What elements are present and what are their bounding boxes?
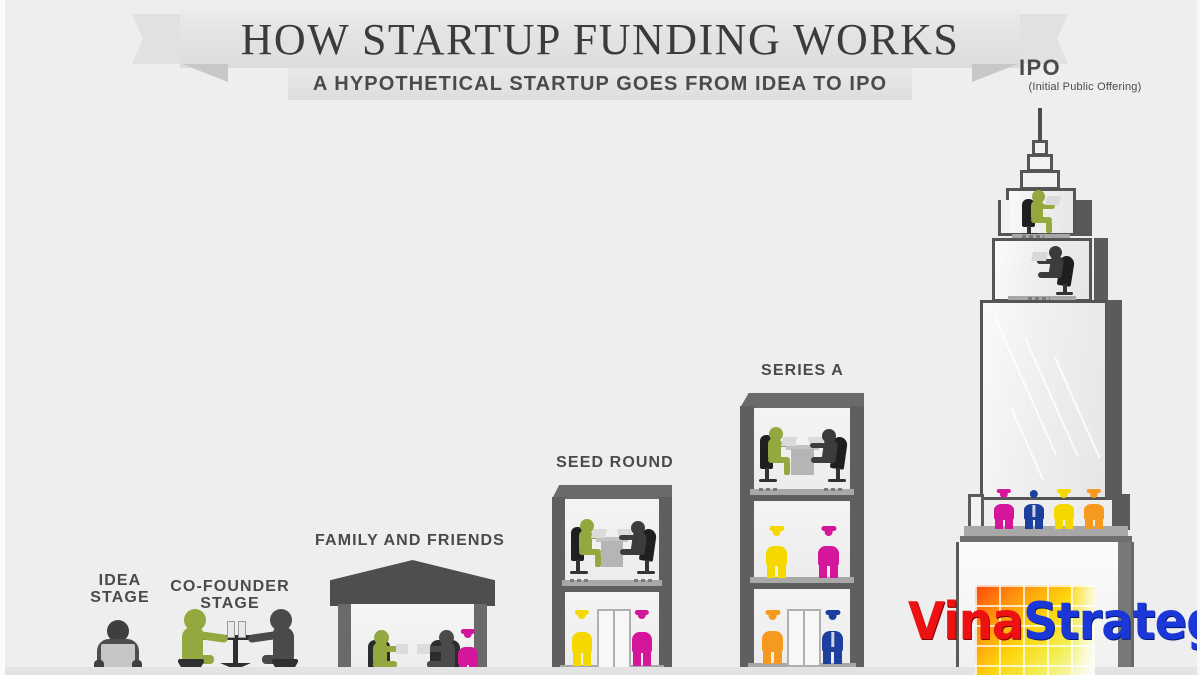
head-icon: [578, 611, 586, 619]
laptop-icon: [396, 644, 408, 654]
subtitle-ribbon: A HYPOTHETICAL STARTUP GOES FROM IDEA TO…: [288, 68, 912, 100]
leg-left-shape: [633, 651, 641, 666]
leg-left-shape: [763, 649, 771, 664]
torso-shape: [762, 631, 783, 652]
leg-left-shape: [573, 651, 581, 666]
watermark-vina: Vina: [908, 592, 1023, 652]
scene-co-founder-stage: [172, 605, 300, 675]
torso-shape: [572, 632, 592, 654]
house-roof: [330, 560, 495, 606]
chair-base: [570, 571, 588, 574]
tower-shadow-right: [1106, 300, 1122, 500]
leg-right-shape: [830, 564, 838, 578]
leg-shape: [1046, 221, 1052, 233]
arm-shape: [619, 535, 637, 540]
person-seed-magenta: [632, 611, 652, 665]
torso-shape: [441, 642, 455, 663]
thigh-shape: [811, 457, 836, 463]
head-icon: [1060, 490, 1068, 498]
leg-right-shape: [583, 651, 591, 666]
chair-base: [759, 479, 777, 482]
person-ipo-magenta: [994, 490, 1014, 528]
torso-shape: [632, 632, 652, 654]
person-series-a-orange: [762, 611, 783, 663]
leg-left-shape: [995, 518, 1003, 529]
elevator-icon: [787, 609, 821, 667]
leg-right-shape: [834, 649, 842, 664]
infographic-canvas: HOW STARTUP FUNDING WORKS A HYPOTHETICAL…: [0, 0, 1200, 675]
person-ipo-exec-olive: [1022, 190, 1064, 238]
thigh-shape: [620, 549, 645, 555]
terrace-parapet-right: [1112, 494, 1130, 530]
leg-left-shape: [823, 649, 831, 664]
head-icon: [824, 527, 833, 536]
title-banner: HOW STARTUP FUNDING WORKS A HYPOTHETICAL…: [180, 4, 1020, 104]
label-family-and-friends: FAMILY AND FRIENDS: [315, 532, 505, 549]
building-top-bevel: [740, 393, 864, 408]
spire-needle: [1038, 108, 1042, 144]
laptop-icon: [781, 437, 797, 446]
leg-shape: [784, 461, 790, 475]
scene-seed-round: [552, 485, 672, 675]
floor-vent: [759, 488, 780, 491]
person-ipo-yellow: [1054, 490, 1074, 528]
crown-shoulder-left: [998, 200, 1010, 236]
upper-setback-shadow: [1094, 238, 1108, 302]
leg-left-shape: [767, 564, 775, 578]
label-seed-round: SEED ROUND: [540, 454, 690, 471]
watermark-strategy: Strategy: [1023, 592, 1200, 652]
head-icon: [1030, 490, 1038, 498]
shirt-shape: [831, 632, 834, 648]
crown-shoulder-right: [1076, 200, 1092, 236]
chair-base: [637, 571, 655, 574]
chair-base: [828, 479, 846, 482]
seed-office-group: [566, 513, 658, 583]
head-icon: [1000, 490, 1008, 498]
leg-left-shape: [819, 564, 827, 578]
laptop-icon: [1045, 196, 1061, 205]
leg-left-shape: [1055, 518, 1063, 529]
chair-base: [1056, 292, 1073, 295]
person-series-a-magenta: [818, 527, 839, 577]
leg-right-shape: [778, 564, 786, 578]
leg-right-shape: [774, 649, 782, 664]
head-icon: [772, 527, 781, 536]
laptop-icon: [591, 529, 607, 538]
leg-left-shape: [1085, 518, 1093, 529]
person-seed-yellow: [572, 611, 592, 665]
series-a-office-group: [755, 421, 849, 493]
person-series-a-gray: [807, 427, 847, 487]
head-icon: [464, 630, 472, 638]
person-ipo-exec-gray: [1028, 244, 1074, 296]
head-icon: [768, 611, 777, 620]
head-icon: [1090, 490, 1098, 498]
watermark: VinaStrategy: [908, 596, 1200, 648]
page-title: HOW STARTUP FUNDING WORKS: [180, 10, 1020, 68]
scene-series-a: [740, 393, 864, 675]
terrace-parapet-left: [968, 494, 984, 530]
building-right-column: [850, 406, 864, 675]
shirt-shape: [1032, 505, 1035, 516]
house-wall-left: [338, 604, 351, 675]
person-co-founder-right: [244, 609, 298, 675]
label-series-a: SERIES A: [735, 362, 870, 379]
floor-vent: [570, 579, 590, 582]
leg-right-shape: [1005, 518, 1013, 529]
laptop-icon: [417, 644, 430, 654]
person-ipo-blue: [1024, 490, 1044, 528]
spire-step-3: [1020, 170, 1060, 190]
leg-right-shape: [1035, 518, 1043, 529]
leg-right-shape: [1065, 518, 1073, 529]
building-top-bevel: [552, 485, 672, 499]
laptop-icon: [101, 644, 135, 668]
person-seed-gray: [616, 519, 656, 579]
label-ipo-sublabel: (Initial Public Offering): [1000, 82, 1170, 94]
torso-shape: [818, 546, 839, 566]
leg-right-shape: [643, 651, 651, 666]
person-series-a-yellow: [766, 527, 787, 577]
person-ipo-orange: [1084, 490, 1104, 528]
arm-shape: [810, 443, 828, 448]
person-series-a-blue: [822, 611, 843, 663]
head-icon: [638, 611, 646, 619]
leg-left-shape: [1025, 518, 1033, 529]
thigh-shape: [1038, 272, 1062, 278]
scene-family-and-friends: [330, 560, 495, 675]
person-co-founder-left: [178, 609, 232, 675]
floor-vent: [634, 579, 654, 582]
elevator-icon: [597, 609, 631, 669]
table-stem: [233, 639, 238, 665]
ribbon-tail-left: [132, 14, 182, 64]
leg-right-shape: [1095, 518, 1103, 529]
label-ipo: IPO: [985, 56, 1095, 80]
floor-vent: [824, 488, 845, 491]
building-left-column: [740, 406, 754, 675]
torso-shape: [766, 546, 787, 566]
page-subtitle: A HYPOTHETICAL STARTUP GOES FROM IDEA TO…: [313, 73, 887, 96]
head-icon: [828, 611, 837, 620]
laptop-icon: [1031, 252, 1048, 261]
